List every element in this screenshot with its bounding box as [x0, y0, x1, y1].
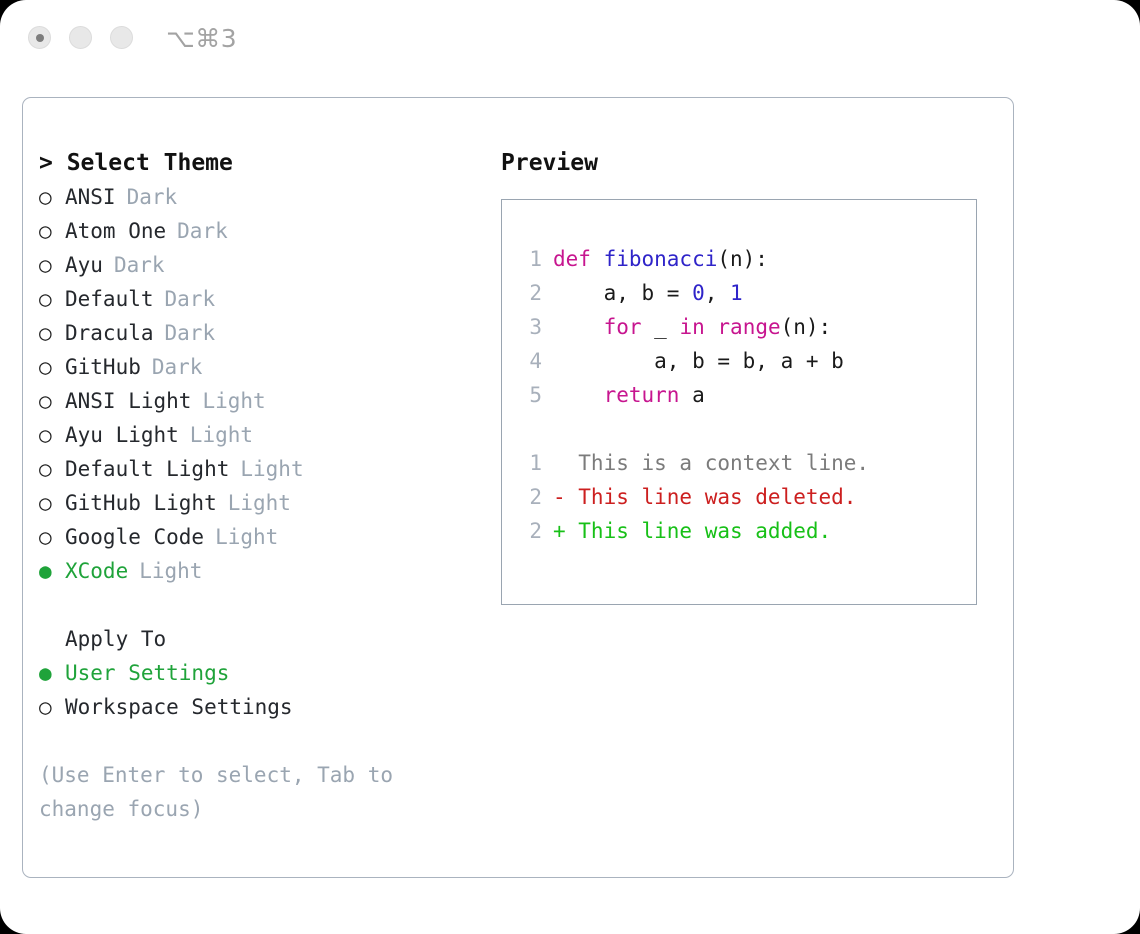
radio-unselected-icon[interactable]: ○: [39, 180, 65, 214]
theme-name: GitHub Light: [65, 486, 217, 520]
code-token: [553, 315, 604, 339]
app-window: ⌥⌘3 > Select Theme ○ANSIDark○Atom OneDar…: [0, 0, 1140, 934]
line-number: 1: [516, 242, 553, 276]
theme-selector-column: > Select Theme ○ANSIDark○Atom OneDark○Ay…: [39, 146, 489, 826]
theme-variant-label: Light: [128, 554, 202, 588]
code-line: 2 a, b = 0, 1: [516, 276, 976, 310]
radio-unselected-icon[interactable]: ○: [39, 248, 65, 282]
record-dot-button[interactable]: [28, 26, 51, 49]
apply-to-heading: Apply To: [39, 622, 489, 656]
preview-heading: Preview: [501, 146, 1001, 180]
code-token: - This line was deleted.: [553, 485, 856, 509]
theme-name: GitHub: [65, 350, 141, 384]
line-number: 4: [516, 344, 553, 378]
record-dot-inner-icon: [36, 34, 44, 42]
theme-variant-label: Dark: [154, 316, 216, 350]
code-sample: 1def fibonacci(n):2 a, b = 0, 13 for _ i…: [516, 242, 976, 412]
radio-unselected-icon[interactable]: ○: [39, 452, 65, 486]
diff-line: 1 This is a context line.: [516, 446, 976, 480]
apply-to-list: ●User Settings○Workspace Settings: [39, 656, 489, 724]
code-token: range: [717, 315, 780, 339]
theme-name: XCode: [65, 554, 128, 588]
theme-list-item[interactable]: ○DraculaDark: [39, 316, 489, 350]
code-token: in: [679, 315, 704, 339]
select-theme-heading-label: Select Theme: [67, 150, 233, 176]
radio-unselected-icon[interactable]: ○: [39, 486, 65, 520]
radio-unselected-icon[interactable]: ○: [39, 418, 65, 452]
theme-list: ○ANSIDark○Atom OneDark○AyuDark○DefaultDa…: [39, 180, 489, 588]
diff-line: 2+ This line was added.: [516, 514, 976, 548]
code-line: 3 for _ in range(n):: [516, 310, 976, 344]
preview-box: 1def fibonacci(n):2 a, b = 0, 13 for _ i…: [501, 199, 977, 605]
radio-unselected-icon[interactable]: ○: [39, 520, 65, 554]
prompt-caret-icon: >: [39, 150, 67, 176]
code-token: fibonacci: [604, 247, 718, 271]
code-text: This is a context line.: [553, 446, 869, 480]
theme-variant-label: Light: [217, 486, 291, 520]
code-text: for _ in range(n):: [553, 310, 831, 344]
window-dot-button-3[interactable]: [110, 26, 133, 49]
theme-variant-label: Light: [204, 520, 278, 554]
code-token: [705, 315, 718, 339]
code-text: a, b = 0, 1: [553, 276, 743, 310]
code-token: This is a context line.: [553, 451, 869, 475]
code-token: a, b =: [553, 281, 692, 305]
code-token: (n):: [717, 247, 768, 271]
line-number: 2: [516, 276, 553, 310]
theme-name: ANSI: [65, 180, 116, 214]
theme-list-item[interactable]: ○ANSI LightLight: [39, 384, 489, 418]
line-number: 2: [516, 514, 553, 548]
preview-column: Preview 1def fibonacci(n):2 a, b = 0, 13…: [501, 146, 1001, 605]
code-token: [553, 383, 604, 407]
line-number: 3: [516, 310, 553, 344]
apply-to-option[interactable]: ○Workspace Settings: [39, 690, 489, 724]
theme-list-item[interactable]: ●XCodeLight: [39, 554, 489, 588]
line-number: 2: [516, 480, 553, 514]
code-diff-spacer: [516, 412, 976, 446]
theme-variant-label: Dark: [116, 180, 178, 214]
keyboard-hint-text: (Use Enter to select, Tab to change focu…: [39, 758, 439, 826]
code-line: 1def fibonacci(n):: [516, 242, 976, 276]
radio-unselected-icon[interactable]: ○: [39, 282, 65, 316]
theme-name: ANSI Light: [65, 384, 191, 418]
code-text: + This line was added.: [553, 514, 831, 548]
theme-variant-label: Dark: [103, 248, 165, 282]
theme-variant-label: Light: [179, 418, 253, 452]
code-text: return a: [553, 378, 705, 412]
radio-unselected-icon[interactable]: ○: [39, 690, 65, 724]
theme-list-item[interactable]: ○GitHubDark: [39, 350, 489, 384]
title-bar: ⌥⌘3: [0, 0, 1140, 78]
radio-unselected-icon[interactable]: ○: [39, 214, 65, 248]
code-text: - This line was deleted.: [553, 480, 856, 514]
theme-list-item[interactable]: ○Atom OneDark: [39, 214, 489, 248]
radio-selected-icon[interactable]: ●: [39, 656, 65, 690]
apply-to-label: User Settings: [65, 656, 229, 690]
theme-name: Ayu Light: [65, 418, 179, 452]
code-token: _: [642, 315, 680, 339]
theme-list-item[interactable]: ○AyuDark: [39, 248, 489, 282]
code-token: a, b = b, a + b: [553, 349, 844, 373]
code-token: return: [604, 383, 680, 407]
code-token: (n):: [781, 315, 832, 339]
code-token: ,: [705, 281, 730, 305]
apply-to-option[interactable]: ●User Settings: [39, 656, 489, 690]
theme-list-item[interactable]: ○Default LightLight: [39, 452, 489, 486]
theme-name: Atom One: [65, 214, 166, 248]
radio-selected-icon[interactable]: ●: [39, 554, 65, 588]
code-token: a: [679, 383, 704, 407]
line-number: 5: [516, 378, 553, 412]
select-theme-heading: > Select Theme: [39, 146, 489, 180]
content-panel: > Select Theme ○ANSIDark○Atom OneDark○Ay…: [22, 97, 1014, 878]
theme-list-item[interactable]: ○Google CodeLight: [39, 520, 489, 554]
code-token: + This line was added.: [553, 519, 831, 543]
line-number: 1: [516, 446, 553, 480]
theme-list-item[interactable]: ○GitHub LightLight: [39, 486, 489, 520]
theme-variant-label: Dark: [141, 350, 203, 384]
theme-variant-label: Dark: [166, 214, 228, 248]
theme-name: Default: [65, 282, 154, 316]
theme-name: Default Light: [65, 452, 229, 486]
theme-name: Dracula: [65, 316, 154, 350]
window-controls: [28, 26, 133, 49]
theme-list-item[interactable]: ○Ayu LightLight: [39, 418, 489, 452]
section-spacer: [39, 588, 489, 622]
code-line: 5 return a: [516, 378, 976, 412]
code-token: for: [604, 315, 642, 339]
diff-line: 2- This line was deleted.: [516, 480, 976, 514]
code-token: 0: [692, 281, 705, 305]
theme-name: Google Code: [65, 520, 204, 554]
window-title: ⌥⌘3: [166, 24, 237, 53]
code-line: 4 a, b = b, a + b: [516, 344, 976, 378]
code-text: a, b = b, a + b: [553, 344, 844, 378]
code-token: def: [553, 247, 604, 271]
radio-unselected-icon[interactable]: ○: [39, 350, 65, 384]
diff-sample: 1 This is a context line.2- This line wa…: [516, 446, 976, 548]
theme-list-item[interactable]: ○ANSIDark: [39, 180, 489, 214]
theme-name: Ayu: [65, 248, 103, 282]
apply-to-label: Workspace Settings: [65, 690, 293, 724]
theme-variant-label: Dark: [154, 282, 216, 316]
window-dot-button-2[interactable]: [69, 26, 92, 49]
code-token: 1: [730, 281, 743, 305]
theme-variant-label: Light: [191, 384, 265, 418]
code-text: def fibonacci(n):: [553, 242, 768, 276]
theme-variant-label: Light: [229, 452, 303, 486]
theme-list-item[interactable]: ○DefaultDark: [39, 282, 489, 316]
radio-unselected-icon[interactable]: ○: [39, 316, 65, 350]
radio-unselected-icon[interactable]: ○: [39, 384, 65, 418]
